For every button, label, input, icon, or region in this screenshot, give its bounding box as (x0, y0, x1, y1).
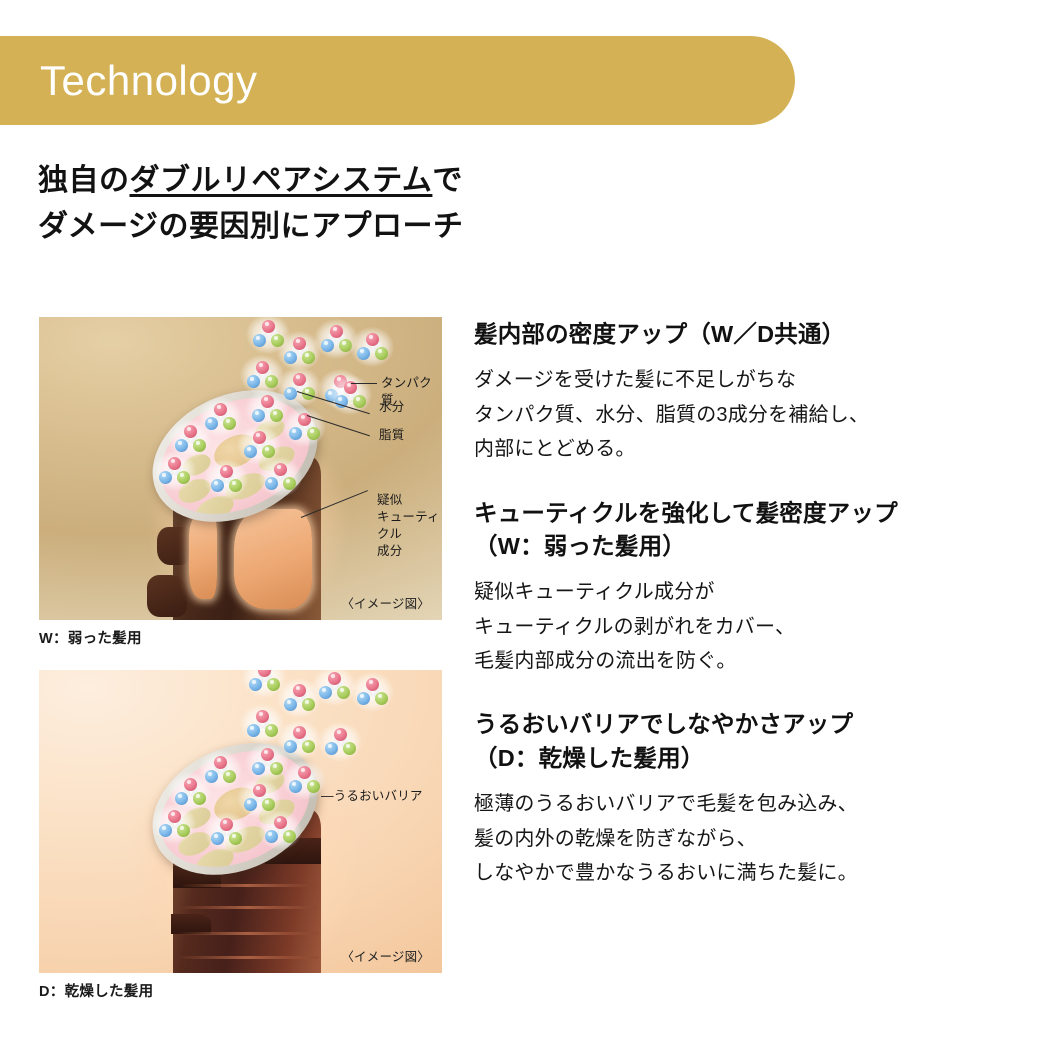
text-column: 髪内部の密度アップ（W／D共通） ダメージを受けた髪に不足しがちな タンパク質、… (474, 318, 1014, 916)
illustration-column: タンパク質 水分 脂質 疑似 キューティクル 成分 〈イメージ図〉 W：弱った髪… (39, 317, 443, 1001)
molecule-icon (244, 431, 274, 458)
page-title: 独自のダブルリペアシステムで ダメージの要因別にアプローチ (38, 158, 678, 249)
figure-label-lipid: 脂質 (379, 427, 404, 444)
technology-page: Technology 独自のダブルリペアシステムで ダメージの要因別にアプローチ (0, 0, 1040, 1040)
leader-line-protein (351, 383, 377, 384)
figure-d-image-note: 〈イメージ図〉 (341, 946, 430, 965)
section-moisture-barrier-body: 極薄のうるおいバリアで毛髪を包み込み、 髪の内外の乾燥を防ぎながら、 しなやかで… (474, 787, 1014, 890)
figure-w-image-note: 〈イメージ図〉 (341, 593, 430, 612)
cuticle-scale-line (177, 956, 319, 959)
molecule-icon (325, 728, 355, 755)
molecule-icon (205, 756, 235, 783)
molecule-icon (289, 766, 319, 793)
molecule-icon (252, 395, 282, 422)
pseudo-cuticle-patch-small-icon (189, 513, 217, 599)
headline-line1-post: で (432, 164, 463, 197)
cuticle-tear-icon (171, 914, 211, 934)
molecule-icon (357, 333, 387, 360)
molecule-icon (284, 726, 314, 753)
section-banner: Technology (0, 36, 795, 125)
molecule-icon (252, 748, 282, 775)
molecule-icon (211, 818, 241, 845)
figure-label-pseudo-cuticle: 疑似 キューティクル 成分 (377, 492, 442, 560)
section-density-title: 髪内部の密度アップ（W／D共通） (474, 318, 1014, 351)
molecule-icon (265, 463, 295, 490)
figure-w-image: タンパク質 水分 脂質 疑似 キューティクル 成分 〈イメージ図〉 (39, 317, 442, 620)
section-density-body: ダメージを受けた髪に不足しがちな タンパク質、水分、脂質の3成分を補給し、 内部… (474, 363, 1014, 466)
headline-line2: ダメージの要因別にアプローチ (38, 210, 464, 243)
headline-line1-pre: 独自の (38, 164, 130, 197)
molecule-icon (211, 465, 241, 492)
molecule-icon (175, 778, 205, 805)
section-cuticle-body: 疑似キューティクル成分が キューティクルの剥がれをカバー、 毛髪内部成分の流出を… (474, 575, 1014, 678)
figure-w: タンパク質 水分 脂質 疑似 キューティクル 成分 〈イメージ図〉 W：弱った髪… (39, 317, 443, 648)
section-moisture-barrier-title: うるおいバリアでしなやかさアップ （D：乾燥した髪用） (474, 708, 1014, 775)
figure-d: —うるおいバリア 〈イメージ図〉 D：乾燥した髪用 (39, 670, 443, 1001)
molecule-icon (284, 684, 314, 711)
molecule-icon (249, 670, 279, 691)
section-density: 髪内部の密度アップ（W／D共通） ダメージを受けた髪に不足しがちな タンパク質、… (474, 318, 1014, 467)
molecule-icon (175, 425, 205, 452)
molecule-icon (247, 361, 277, 388)
molecule-icon (321, 325, 351, 352)
figure-d-image: —うるおいバリア 〈イメージ図〉 (39, 670, 442, 973)
figure-d-caption: D：乾燥した髪用 (39, 980, 443, 1001)
cuticle-scale-line (177, 932, 319, 935)
pseudo-cuticle-patch-large-icon (234, 509, 312, 609)
banner-title: Technology (40, 57, 257, 105)
molecule-icon (253, 320, 283, 347)
cuticle-scale-line (179, 906, 317, 909)
molecule-icon (159, 457, 189, 484)
figure-label-moisture: 水分 (379, 399, 404, 416)
molecule-icon (319, 672, 349, 699)
section-cuticle: キューティクルを強化して髪密度アップ （W：弱った髪用） 疑似キューティクル成分… (474, 497, 1014, 679)
molecule-icon (159, 810, 189, 837)
headline-line1-underlined: ダブルリペアシステム (130, 164, 433, 197)
figure-label-moisture-barrier: —うるおいバリア (321, 788, 423, 805)
section-cuticle-title: キューティクルを強化して髪密度アップ （W：弱った髪用） (474, 497, 1014, 564)
molecule-icon (357, 678, 387, 705)
hair-shaft-d (39, 670, 442, 973)
cuticle-dark-b-icon (147, 575, 187, 617)
hair-shaft-w (39, 317, 442, 620)
figure-w-caption: W：弱った髪用 (39, 627, 443, 648)
cuticle-dark-a-icon (157, 527, 189, 565)
cuticle-scale-line (181, 884, 313, 887)
section-moisture-barrier: うるおいバリアでしなやかさアップ （D：乾燥した髪用） 極薄のうるおいバリアで毛… (474, 708, 1014, 890)
molecule-icon (247, 710, 277, 737)
molecule-icon (205, 403, 235, 430)
molecule-icon (244, 784, 274, 811)
molecule-icon (265, 816, 295, 843)
